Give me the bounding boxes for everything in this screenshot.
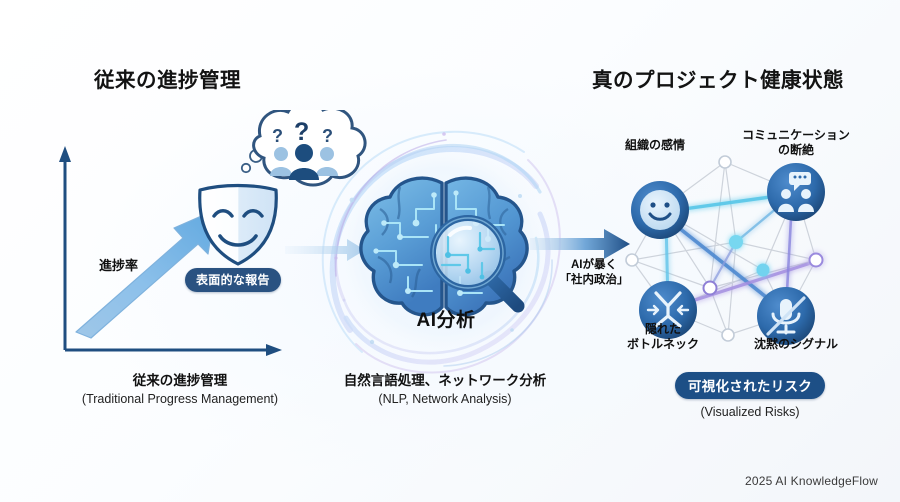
left-caption-en: (Traditional Progress Management) [40, 390, 320, 408]
center-panel-caption: 自然言語処理、ネットワーク分析 (NLP, Network Analysis) [310, 372, 580, 408]
ai-analysis-label: AI分析 [386, 305, 506, 332]
progress-rate-label: 進捗率 [99, 255, 138, 274]
left-caption-jp: 従来の進捗管理 [40, 372, 320, 390]
x-axis-arrowhead [266, 344, 282, 356]
infographic-canvas: 従来の進捗管理 真のプロジェクト健康状態 [0, 0, 900, 502]
node-communication-breakdown[interactable] [767, 163, 825, 221]
right-panel-caption: 可視化されたリスク (Visualized Risks) [640, 372, 860, 421]
right-caption-en: (Visualized Risks) [640, 403, 860, 421]
node-label-org-emotion: 組織の感情 [600, 138, 710, 153]
node-label-comm-line1: コミュニケーション [716, 128, 876, 143]
center-caption-en: (NLP, Network Analysis) [310, 390, 580, 408]
visualized-risks-badge: 可視化されたリスク [640, 372, 860, 399]
question-mark-small-left: ? [272, 126, 283, 146]
y-axis-arrowhead [59, 146, 71, 162]
surface-report-badge-text: 表面的な報告 [185, 268, 281, 292]
left-panel-graphics: ? ? ? [40, 110, 380, 490]
node-label-bottleneck-line2: ボトルネック [608, 337, 718, 352]
center-caption-jp: 自然言語処理、ネットワーク分析 [310, 372, 580, 390]
question-mark-small-right: ? [322, 126, 333, 146]
visualized-risks-badge-text: 可視化されたリスク [675, 372, 825, 399]
question-mark-large: ? [294, 118, 309, 146]
footer-credit: 2025 AI KnowledgeFlow [745, 474, 878, 488]
node-org-emotion[interactable] [631, 181, 689, 239]
right-panel-title: 真のプロジェクト健康状態 [592, 63, 844, 93]
left-panel-title: 従来の進捗管理 [94, 63, 241, 93]
left-panel-caption: 従来の進捗管理 (Traditional Progress Management… [40, 372, 320, 408]
node-label-communication-breakdown: コミュニケーション の断絶 [716, 128, 876, 158]
node-label-comm-line2: の断絶 [716, 143, 876, 158]
node-label-bottleneck-line1: 隠れた [608, 322, 718, 337]
node-label-hidden-bottleneck: 隠れた ボトルネック [608, 322, 718, 352]
thought-cloud-icon: ? ? ? [254, 110, 366, 185]
surface-report-badge: 表面的な報告 [185, 268, 281, 292]
node-label-silence-signal: 沈黙のシグナル [736, 337, 856, 352]
theater-mask-icon [200, 186, 277, 265]
